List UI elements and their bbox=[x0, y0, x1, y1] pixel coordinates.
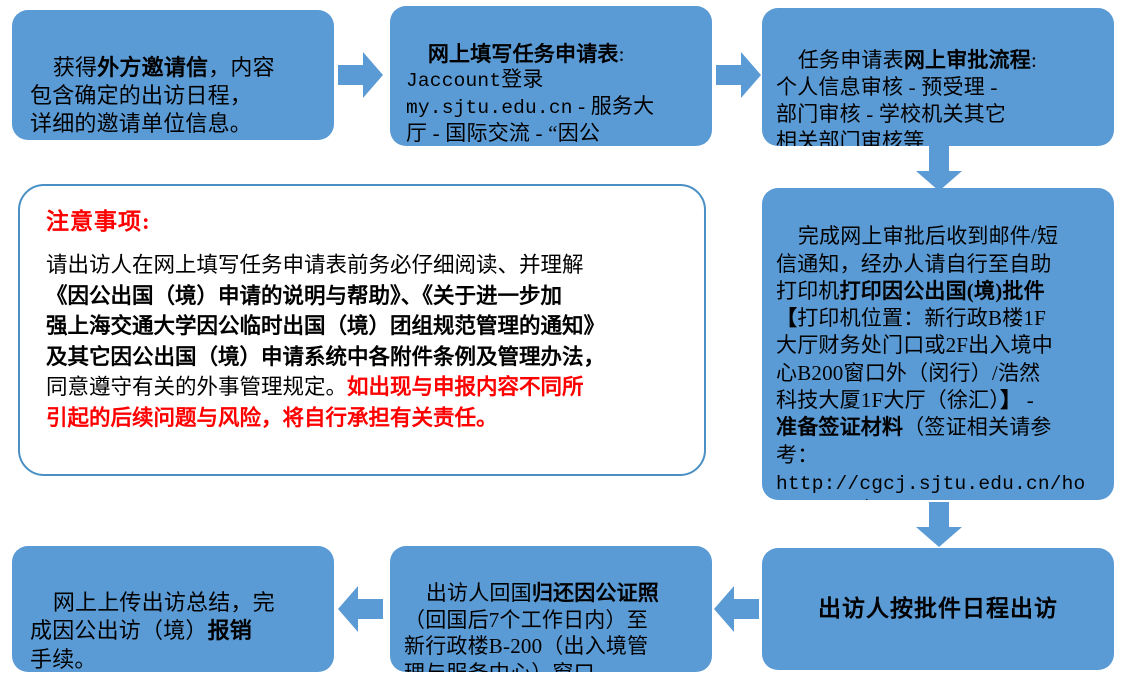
node-online-approval-workflow[interactable]: 任务申请表网上审批流程:个人信息审核 - 预受理 -部门审核 - 学校机关其它相… bbox=[762, 8, 1114, 146]
note-line-3: 强上海交通大学因公临时出国（境）团组规范管理的通知》 bbox=[46, 314, 605, 338]
node-text: 出访人回国归还因公证照（回国后7个工作日内）至新行政楼B-200（出入境管理与服… bbox=[404, 581, 659, 672]
note-body: 请出访人在网上填写任务申请表前务必仔细阅读、并理解 《因公出国（境）申请的说明与… bbox=[46, 250, 682, 433]
node-text: 网上填写任务申请表:Jaccount登录my.sjtu.edu.cn - 服务大… bbox=[406, 42, 654, 146]
arrow-step4-to-step5 bbox=[912, 502, 966, 548]
arrow-step3-to-step4 bbox=[912, 146, 966, 192]
flowchart-canvas: 获得外方邀请信，内容包含确定的出访日程，详细的邀请单位信息。 网上填写任务申请表… bbox=[0, 0, 1126, 686]
note-line-2: 《因公出国（境）申请的说明与帮助》、《关于进一步加 bbox=[46, 284, 562, 308]
note-title: 注意事项: bbox=[46, 202, 682, 236]
note-line-5-alert: 如出现与申报内容不同所 bbox=[347, 375, 584, 399]
node-obtain-invitation-letter[interactable]: 获得外方邀请信，内容包含确定的出访日程，详细的邀请单位信息。 bbox=[12, 10, 334, 140]
arrow-step6-to-step7 bbox=[338, 582, 384, 636]
node-print-approval-document[interactable]: 完成网上审批后收到邮件/短信通知，经办人请自行至自助打印机打印因公出国(境)批件… bbox=[762, 188, 1114, 500]
node-text: 任务申请表网上审批流程:个人信息审核 - 预受理 -部门审核 - 学校机关其它相… bbox=[776, 48, 1037, 146]
node-text: 获得外方邀请信，内容包含确定的出访日程，详细的邀请单位信息。 bbox=[30, 55, 275, 136]
node-travel-per-schedule[interactable]: 出访人按批件日程出访 bbox=[762, 548, 1114, 670]
note-line-6-alert: 引起的后续问题与风险，将自行承担有关责任。 bbox=[46, 406, 498, 430]
node-text: 完成网上审批后收到邮件/短信通知，经办人请自行至自助打印机打印因公出国(境)批件… bbox=[776, 224, 1085, 500]
note-line-5: 同意遵守有关的外事管理规定。 bbox=[46, 375, 347, 399]
node-upload-summary-reimburse[interactable]: 网上上传出访总结，完成因公出访（境）报销手续。 bbox=[12, 546, 334, 672]
arrow-step1-to-step2 bbox=[338, 48, 384, 102]
note-line-1: 请出访人在网上填写任务申请表前务必仔细阅读、并理解 bbox=[46, 253, 584, 277]
node-text: 出访人按批件日程出访 bbox=[818, 594, 1058, 623]
arrow-step5-to-step6 bbox=[714, 582, 760, 636]
node-return-passport[interactable]: 出访人回国归还因公证照（回国后7个工作日内）至新行政楼B-200（出入境管理与服… bbox=[390, 546, 712, 672]
arrow-step2-to-step3 bbox=[716, 48, 762, 102]
note-line-4: 及其它因公出国（境）申请系统中各附件条例及管理办法， bbox=[46, 345, 605, 369]
attention-note: 注意事项: 请出访人在网上填写任务申请表前务必仔细阅读、并理解 《因公出国（境）… bbox=[18, 184, 706, 476]
node-fill-online-application[interactable]: 网上填写任务申请表:Jaccount登录my.sjtu.edu.cn - 服务大… bbox=[390, 6, 712, 146]
node-text: 网上上传出访总结，完成因公出访（境）报销手续。 bbox=[30, 590, 275, 672]
